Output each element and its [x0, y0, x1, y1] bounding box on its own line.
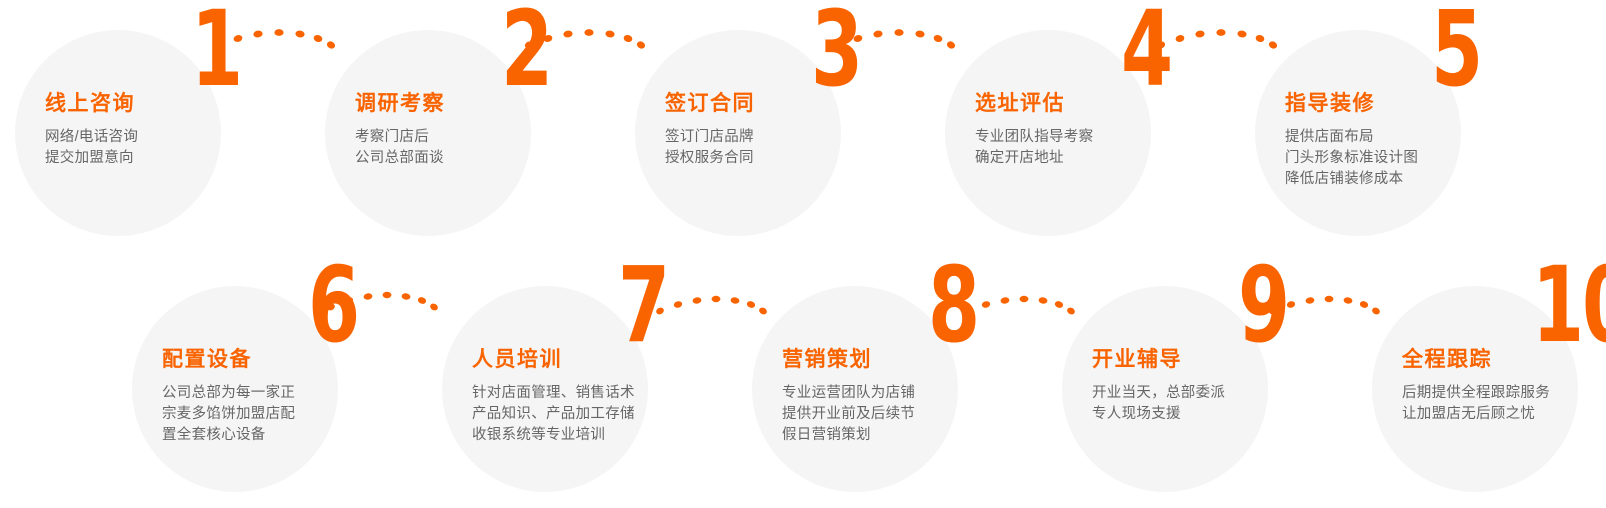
- process-row-top: 1 线上咨询 网络/电话咨询 提交加盟意向: [0, 0, 1606, 254]
- step-content-3: 签订合同 签订门店品牌 授权服务合同: [665, 92, 755, 169]
- step-content-7: 人员培训 针对店面管理、销售话术 产品知识、产品加工存储 收银系统等专业培训: [472, 348, 635, 446]
- step-description-5: 提供店面布局 门头形象标准设计图 降低店铺装修成本: [1285, 127, 1418, 190]
- connector-dots-2-3: [523, 18, 643, 52]
- process-step-7[interactable]: 7 人员培训 针对店面管理、销售话术 产品知识、产品加工存储 收银系统等专业培训: [442, 286, 648, 492]
- connector-dots-6-7: [326, 282, 436, 316]
- step-content-2: 调研考察 考察门店后 公司总部面谈: [355, 92, 445, 169]
- step-content-6: 配置设备 公司总部为每一家正 宗麦多馅饼加盟店配 置全套核心设备: [162, 348, 295, 446]
- process-step-10[interactable]: 10 全程跟踪 后期提供全程跟踪服务 让加盟店无后顾之忧: [1372, 286, 1578, 492]
- step-content-8: 营销策划 专业运营团队为店铺 提供开业前及后续节 假日营销策划: [782, 348, 915, 446]
- step-title-10: 全程跟踪: [1402, 348, 1550, 371]
- step-content-1: 线上咨询 网络/电话咨询 提交加盟意向: [45, 92, 138, 169]
- process-step-8[interactable]: 8 营销策划 专业运营团队为店铺 提供开业前及后续节 假日营销策划: [752, 286, 958, 492]
- step-desc-line: 公司总部为每一家正: [162, 383, 295, 404]
- step-desc-line: 确定开店地址: [975, 148, 1093, 169]
- step-desc-line: 网络/电话咨询: [45, 127, 138, 148]
- step-title-2: 调研考察: [355, 92, 445, 115]
- step-desc-line: 降低店铺装修成本: [1285, 169, 1418, 190]
- step-desc-line: 公司总部面谈: [355, 148, 445, 169]
- step-description-9: 开业当天，总部委派 专人现场支援: [1092, 383, 1225, 425]
- step-description-3: 签订门店品牌 授权服务合同: [665, 127, 755, 169]
- step-desc-line: 针对店面管理、销售话术: [472, 383, 635, 404]
- process-step-5[interactable]: 5 指导装修 提供店面布局 门头形象标准设计图 降低店铺装修成本: [1255, 30, 1461, 236]
- step-desc-line: 授权服务合同: [665, 148, 755, 169]
- step-desc-line: 考察门店后: [355, 127, 445, 148]
- step-desc-line: 提交加盟意向: [45, 148, 138, 169]
- step-desc-line: 专业运营团队为店铺: [782, 383, 915, 404]
- step-description-2: 考察门店后 公司总部面谈: [355, 127, 445, 169]
- step-desc-line: 宗麦多馅饼加盟店配: [162, 404, 295, 425]
- step-desc-line: 专人现场支援: [1092, 404, 1225, 425]
- connector-dots-3-4: [833, 18, 953, 52]
- step-title-5: 指导装修: [1285, 92, 1418, 115]
- step-desc-line: 收银系统等专业培训: [472, 425, 635, 446]
- step-desc-line: 门头形象标准设计图: [1285, 148, 1418, 169]
- step-description-4: 专业团队指导考察 确定开店地址: [975, 127, 1093, 169]
- step-description-7: 针对店面管理、销售话术 产品知识、产品加工存储 收银系统等专业培训: [472, 383, 635, 446]
- step-desc-line: 签订门店品牌: [665, 127, 755, 148]
- step-description-10: 后期提供全程跟踪服务 让加盟店无后顾之忧: [1402, 383, 1550, 425]
- step-title-1: 线上咨询: [45, 92, 138, 115]
- step-description-8: 专业运营团队为店铺 提供开业前及后续节 假日营销策划: [782, 383, 915, 446]
- connector-dots-1-2: [213, 18, 333, 52]
- step-content-9: 开业辅导 开业当天，总部委派 专人现场支援: [1092, 348, 1225, 425]
- step-desc-line: 提供店面布局: [1285, 127, 1418, 148]
- connector-dots-7-8: [655, 286, 765, 320]
- step-content-5: 指导装修 提供店面布局 门头形象标准设计图 降低店铺装修成本: [1285, 92, 1418, 190]
- franchise-process-flow: 1 线上咨询 网络/电话咨询 提交加盟意向: [0, 0, 1606, 508]
- step-desc-line: 产品知识、产品加工存储: [472, 404, 635, 425]
- step-desc-line: 假日营销策划: [782, 425, 915, 446]
- process-step-3[interactable]: 3 签订合同 签订门店品牌 授权服务合同: [635, 30, 841, 236]
- process-step-6[interactable]: 6 配置设备 公司总部为每一家正 宗麦多馅饼加盟店配 置全套核心设备: [132, 286, 338, 492]
- process-row-bottom: 6 配置设备 公司总部为每一家正 宗麦多馅饼加盟店配 置全套核心设备: [0, 254, 1606, 508]
- step-desc-line: 置全套核心设备: [162, 425, 295, 446]
- step-title-3: 签订合同: [665, 92, 755, 115]
- process-step-1[interactable]: 1 线上咨询 网络/电话咨询 提交加盟意向: [15, 30, 221, 236]
- step-title-8: 营销策划: [782, 348, 915, 371]
- step-desc-line: 后期提供全程跟踪服务: [1402, 383, 1550, 404]
- step-content-4: 选址评估 专业团队指导考察 确定开店地址: [975, 92, 1093, 169]
- process-step-4[interactable]: 4 选址评估 专业团队指导考察 确定开店地址: [945, 30, 1151, 236]
- step-desc-line: 提供开业前及后续节: [782, 404, 915, 425]
- step-title-9: 开业辅导: [1092, 348, 1225, 371]
- connector-dots-8-9: [963, 286, 1073, 320]
- step-description-6: 公司总部为每一家正 宗麦多馅饼加盟店配 置全套核心设备: [162, 383, 295, 446]
- step-title-4: 选址评估: [975, 92, 1093, 115]
- process-step-9[interactable]: 9 开业辅导 开业当天，总部委派 专人现场支援: [1062, 286, 1268, 492]
- step-desc-line: 专业团队指导考察: [975, 127, 1093, 148]
- step-content-10: 全程跟踪 后期提供全程跟踪服务 让加盟店无后顾之忧: [1402, 348, 1550, 425]
- step-title-6: 配置设备: [162, 348, 295, 371]
- step-title-7: 人员培训: [472, 348, 635, 371]
- connector-dots-9-10: [1268, 286, 1378, 320]
- step-desc-line: 开业当天，总部委派: [1092, 383, 1225, 404]
- step-desc-line: 让加盟店无后顾之忧: [1402, 404, 1550, 425]
- process-step-2[interactable]: 2 调研考察 考察门店后 公司总部面谈: [325, 30, 531, 236]
- step-description-1: 网络/电话咨询 提交加盟意向: [45, 127, 138, 169]
